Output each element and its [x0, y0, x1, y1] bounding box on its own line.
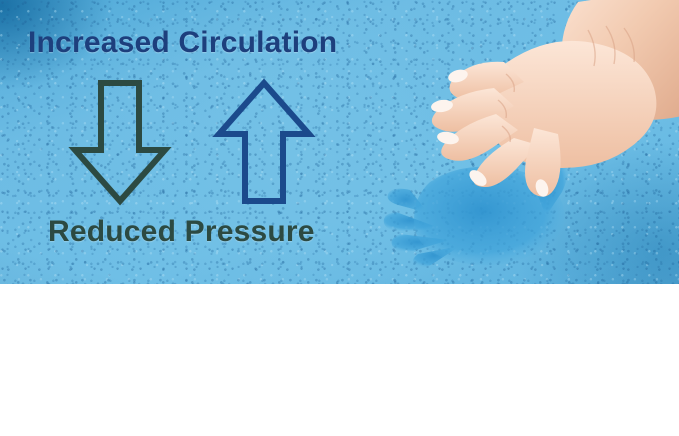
foam-photo-panel: Increased Circulation Reduced Pressure — [0, 0, 679, 284]
arrow-up-icon — [212, 78, 316, 206]
product-feature-poster: Increased Circulation Reduced Pressure — [0, 0, 679, 436]
subline-reduced-pressure: Reduced Pressure — [48, 215, 315, 249]
arrow-down-icon — [68, 78, 172, 206]
headline-increased-circulation: Increased Circulation — [28, 26, 337, 60]
hand-image — [382, 0, 679, 284]
feature-band: 100% GEL-Infused Memory Foam with Temper… — [0, 284, 679, 436]
